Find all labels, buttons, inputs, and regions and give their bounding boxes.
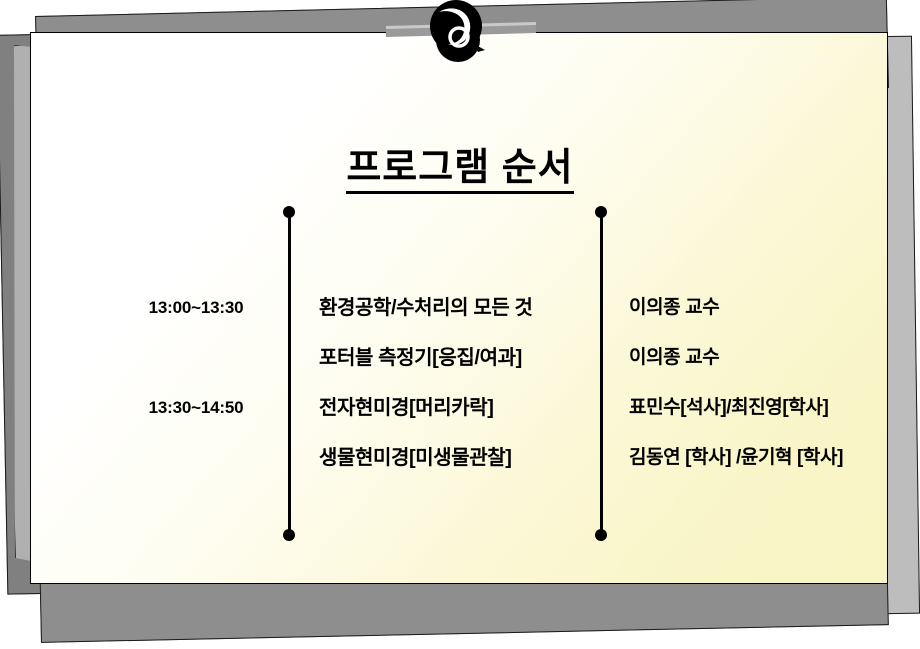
schedule-person: 이의종 교수 — [629, 345, 719, 371]
schedule-topic: 포터블 측정기[응집/여과] — [319, 345, 522, 371]
schedule-person: 이의종 교수 — [629, 295, 719, 321]
divider-dot-bottom-icon — [595, 529, 607, 541]
schedule-row: 13:00~13:30 환경공학/수처리의 모든 것 이의종 교수 — [31, 295, 889, 345]
schedule-row: 생물현미경[미생물관찰] 김동연 [학사] /윤기혁 [학사] — [31, 445, 889, 495]
schedule-list: 13:00~13:30 환경공학/수처리의 모든 것 이의종 교수 포터블 측정… — [31, 295, 889, 495]
schedule-row: 포터블 측정기[응집/여과] 이의종 교수 — [31, 345, 889, 395]
schedule-person: 표민수[석사]/최진영[학사] — [629, 395, 828, 421]
schedule-topic: 전자현미경[머리카락] — [319, 395, 494, 421]
schedule-row: 13:30~14:50 전자현미경[머리카락] 표민수[석사]/최진영[학사] — [31, 395, 889, 445]
page-title: 프로그램 순서 — [31, 147, 889, 191]
schedule-topic: 환경공학/수처리의 모든 것 — [319, 295, 532, 321]
schedule-person: 김동연 [학사] /윤기혁 [학사] — [629, 445, 843, 471]
page-title-text: 프로그램 순서 — [346, 147, 573, 194]
divider-dot-bottom-icon — [283, 529, 295, 541]
schedule-time: 13:00~13:30 — [121, 295, 271, 321]
schedule-topic: 생물현미경[미생물관찰] — [319, 445, 512, 471]
schedule-time: 13:30~14:50 — [121, 395, 271, 421]
slide-page: 프로그램 순서 13:00~13:30 환경공학/수처리의 모든 것 이의종 교… — [30, 32, 888, 584]
slide-canvas: 프로그램 순서 13:00~13:30 환경공학/수처리의 모든 것 이의종 교… — [0, 0, 920, 649]
